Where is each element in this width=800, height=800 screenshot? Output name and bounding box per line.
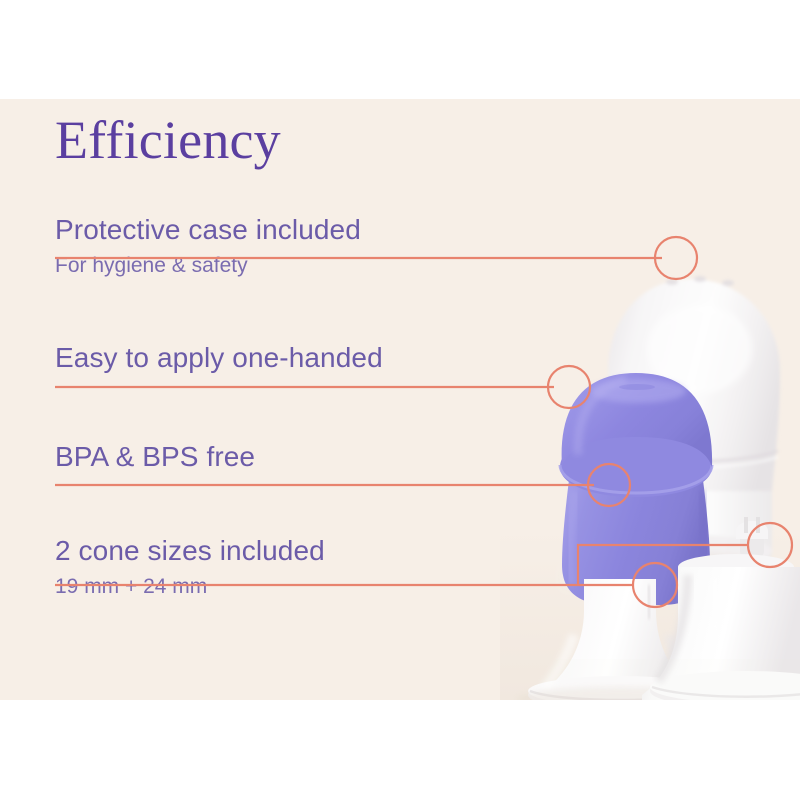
- feature-item-3: BPA & BPS free: [55, 442, 255, 471]
- feature-item-4: 2 cone sizes included 19 mm + 24 mm: [55, 536, 325, 598]
- cream-panel: Efficiency Protective case included For …: [0, 99, 800, 700]
- feature-label-1: Protective case included: [55, 215, 361, 244]
- product-photo: [0, 99, 800, 700]
- feature-label-3: BPA & BPS free: [55, 442, 255, 471]
- feature-item-1: Protective case included For hygiene & s…: [55, 215, 361, 277]
- feature-label-4: 2 cone sizes included: [55, 536, 325, 565]
- feature-sub-1: For hygiene & safety: [55, 255, 361, 277]
- feature-item-2: Easy to apply one-handed: [55, 343, 383, 372]
- feature-sub-4: 19 mm + 24 mm: [55, 576, 325, 598]
- page-title: Efficiency: [55, 113, 281, 167]
- infographic-canvas: Efficiency Protective case included For …: [0, 0, 800, 800]
- feature-label-2: Easy to apply one-handed: [55, 343, 383, 372]
